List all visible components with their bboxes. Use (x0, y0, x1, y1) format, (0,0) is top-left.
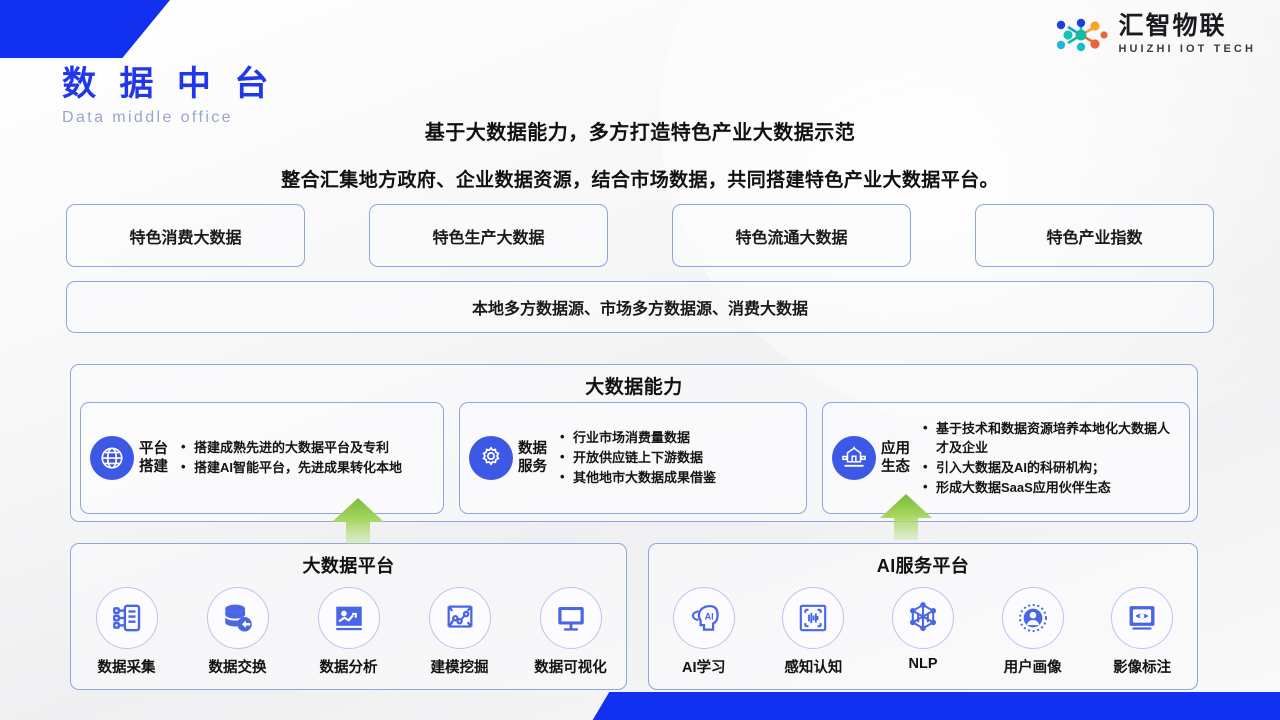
platform-item-label: 用户画像 (1004, 656, 1062, 677)
capability-card-name-line1: 平台 (139, 440, 171, 458)
brand-name-en: HUIZHI IOT TECH (1118, 44, 1256, 55)
capability-card-platform[interactable]: 平台 搭建 搭建成熟先进的大数据平台及专利 搭建AI智能平台，先进成果转化本地 (80, 402, 444, 514)
capability-card-name-line1: 数据 (518, 440, 550, 458)
heading-line-2: 整合汇集地方政府、企业数据资源，结合市场数据，共同搭建特色产业大数据平台。 (0, 165, 1280, 192)
capability-bullet: 搭建AI智能平台，先进成果转化本地 (179, 458, 434, 478)
platform-item-label: 建模挖掘 (431, 656, 489, 677)
platform-item-image-annotation[interactable]: 影像标注 (1094, 587, 1190, 677)
platform-item-list: 数据采集 数据交换 (71, 587, 626, 677)
headings: 基于大数据能力，多方打造特色产业大数据示范 整合汇集地方政府、企业数据资源，结合… (0, 116, 1280, 192)
capability-bullet-list: 基于技术和数据资源培养本地化大数据人才及企业 引入大数据及AI的科研机构； 形成… (921, 419, 1180, 498)
platform-item-list: AI AI学习 感知认知 (649, 587, 1197, 677)
capability-bullet: 开放供应链上下游数据 (558, 448, 797, 468)
platform-item-label: 数据交换 (209, 656, 267, 677)
monitor-icon (540, 587, 602, 649)
svg-text:AI: AI (704, 612, 713, 622)
platform-item-user-profile[interactable]: 用户画像 (985, 587, 1081, 677)
capability-bullet-list: 行业市场消费量数据 开放供应链上下游数据 其他地市大数据成果借鉴 (558, 428, 797, 487)
capability-card-name-line2: 搭建 (139, 458, 171, 476)
platform-item-label: 影像标注 (1113, 656, 1171, 677)
capability-title: 大数据能力 (71, 365, 1197, 399)
platform-item-perception[interactable]: 感知认知 (765, 587, 861, 677)
platform-title: 大数据平台 (71, 544, 626, 578)
platform-item-data-exchange[interactable]: 数据交换 (190, 587, 286, 677)
capability-card-name: 数据 服务 (518, 440, 550, 476)
capability-card-name-line2: 生态 (881, 458, 913, 476)
capability-bullet: 基于技术和数据资源培养本地化大数据人才及企业 (921, 419, 1180, 459)
data-collection-icon (96, 587, 158, 649)
heading-line-1: 基于大数据能力，多方打造特色产业大数据示范 (0, 116, 1280, 145)
capability-card-data-service[interactable]: 数据 服务 行业市场消费量数据 开放供应链上下游数据 其他地市大数据成果借鉴 (459, 402, 807, 514)
source-box[interactable]: 特色产业指数 (975, 204, 1214, 267)
capability-card-name-line2: 服务 (518, 458, 550, 476)
neural-net-icon (892, 587, 954, 649)
capability-card-name-line1: 应用 (881, 440, 913, 458)
platform-title: AI服务平台 (649, 544, 1197, 578)
ai-service-platform-panel: AI服务平台 AI AI学习 感知认知 (648, 543, 1198, 690)
globe-icon (90, 436, 134, 480)
up-arrow-icon (330, 498, 386, 544)
brand-name-cn: 汇智物联 (1118, 14, 1256, 39)
capability-card-name: 平台 搭建 (139, 440, 171, 476)
capability-bullet: 搭建成熟先进的大数据平台及专利 (179, 438, 434, 458)
brand-logo: 汇智物联 HUIZHI IOT TECH (1055, 14, 1256, 55)
source-box[interactable]: 特色流通大数据 (672, 204, 911, 267)
capability-bullet: 行业市场消费量数据 (558, 428, 797, 448)
capability-bullet: 形成大数据SaaS应用伙伴生态 (921, 478, 1180, 498)
source-box[interactable]: 特色生产大数据 (369, 204, 608, 267)
molecule-network-icon (1055, 15, 1109, 55)
platform-item-label: 感知认知 (784, 656, 842, 677)
model-mining-icon (429, 587, 491, 649)
ai-head-icon: AI (673, 587, 735, 649)
platform-item-model-mining[interactable]: 建模挖掘 (412, 587, 508, 677)
capability-bullet: 其他地市大数据成果借鉴 (558, 468, 797, 488)
source-box[interactable]: 特色消费大数据 (66, 204, 305, 267)
platform-item-label: 数据可视化 (534, 656, 607, 677)
platform-item-data-analysis[interactable]: 数据分析 (301, 587, 397, 677)
source-box-row: 特色消费大数据 特色生产大数据 特色流通大数据 特色产业指数 (66, 204, 1214, 267)
chart-analysis-icon (318, 587, 380, 649)
capability-card-list: 平台 搭建 搭建成熟先进的大数据平台及专利 搭建AI智能平台，先进成果转化本地 … (80, 402, 1190, 514)
big-data-capability-panel: 大数据能力 平台 搭建 搭建成熟先进的大数据平台及专利 搭建AI智能平台，先进成… (70, 364, 1198, 522)
waveform-scan-icon (782, 587, 844, 649)
building-icon (832, 436, 876, 480)
user-profile-icon (1002, 587, 1064, 649)
capability-card-name: 应用 生态 (881, 440, 913, 476)
platform-item-data-collection[interactable]: 数据采集 (79, 587, 175, 677)
platform-item-nlp[interactable]: NLP (875, 587, 971, 672)
platform-item-label: AI学习 (682, 656, 726, 677)
big-data-platform-panel: 大数据平台 数据采集 (70, 543, 627, 690)
gear-icon (469, 436, 513, 480)
capability-bullet-list: 搭建成熟先进的大数据平台及专利 搭建AI智能平台，先进成果转化本地 (179, 438, 434, 478)
up-arrow-icon (878, 494, 934, 540)
capability-bullet: 引入大数据及AI的科研机构； (921, 458, 1180, 478)
platform-item-data-visualization[interactable]: 数据可视化 (523, 587, 619, 677)
data-source-band[interactable]: 本地多方数据源、市场多方数据源、消费大数据 (66, 281, 1214, 333)
platform-item-label: 数据采集 (98, 656, 156, 677)
platform-item-label: NLP (908, 656, 937, 672)
platform-item-label: 数据分析 (320, 656, 378, 677)
database-exchange-icon (207, 587, 269, 649)
eye-image-icon (1111, 587, 1173, 649)
platform-item-ai-learning[interactable]: AI AI学习 (656, 587, 752, 677)
page-title-cn: 数 据 中 台 (62, 66, 275, 103)
